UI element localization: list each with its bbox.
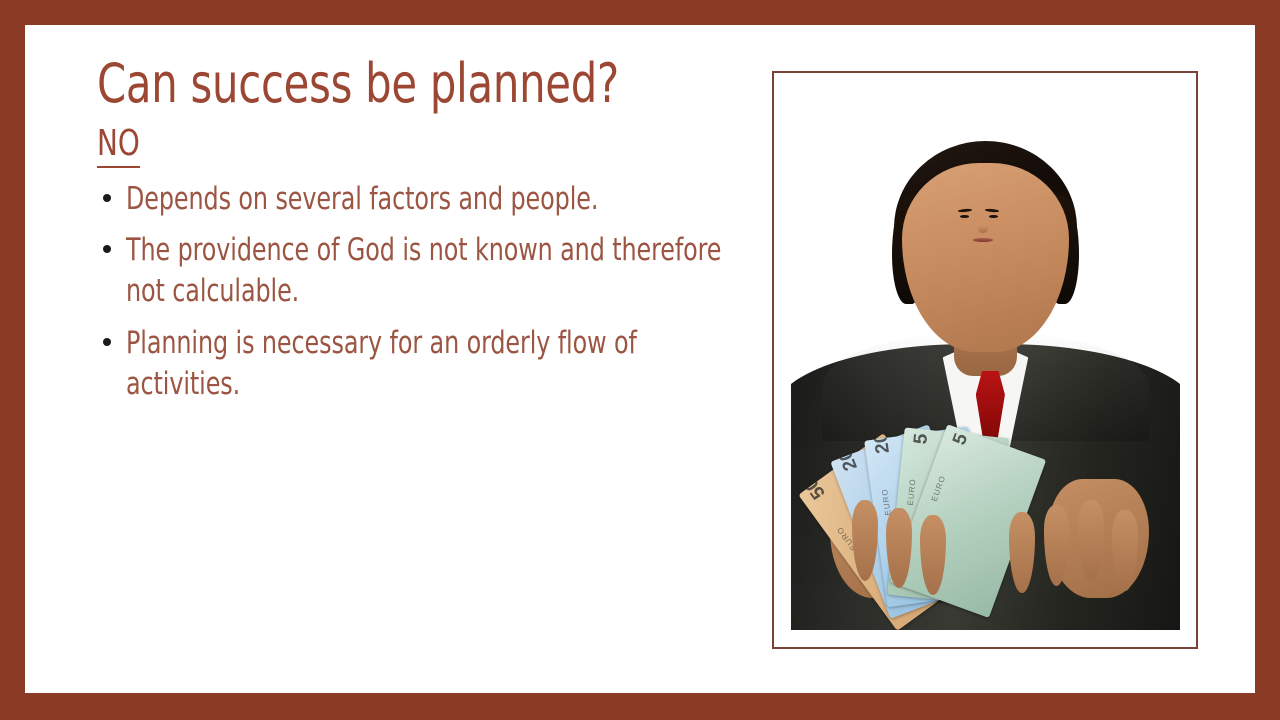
bullet-dot-icon (103, 194, 111, 202)
slide-canvas: Can success be planned? NO Depends on se… (25, 25, 1255, 693)
finger (1078, 500, 1104, 581)
photo-man-holding-euro-banknotes: 50 EURO 20 EURO 20 EURO 5 (791, 90, 1180, 630)
banknote-currency: EURO (930, 475, 948, 504)
slide: Can success be planned? NO Depends on se… (0, 0, 1280, 720)
list-item: Planning is necessary for an orderly flo… (97, 323, 752, 405)
bullet-list: Depends on several factors and people. T… (97, 179, 752, 406)
bullet-dot-icon (103, 338, 111, 346)
nose (978, 221, 988, 232)
list-item-label: The providence of God is not known and t… (126, 230, 752, 312)
banknote-denomination: 5 (911, 433, 934, 446)
picture-frame[interactable]: 50 EURO 20 EURO 20 EURO 5 (772, 71, 1198, 649)
finger (852, 500, 878, 581)
eye-left (960, 215, 969, 218)
eyebrow-right (985, 209, 999, 213)
eye-right (989, 215, 998, 218)
mouth (973, 238, 993, 243)
finger (920, 515, 946, 596)
finger (886, 508, 912, 589)
finger (1009, 512, 1035, 593)
face (902, 163, 1069, 352)
banknote-denomination: 20 (835, 446, 863, 474)
banknote-denomination: 5 (950, 431, 974, 448)
body-placeholder[interactable]: NO Depends on several factors and people… (97, 124, 752, 405)
page-title: Can success be planned? (97, 55, 660, 112)
list-item: The providence of God is not known and t… (97, 230, 752, 312)
list-item: Depends on several factors and people. (97, 179, 752, 220)
finger (1112, 510, 1138, 591)
bullet-dot-icon (103, 245, 111, 253)
list-item-label: Planning is necessary for an orderly flo… (126, 323, 752, 405)
fingers-group (814, 500, 1156, 619)
eyebrow-left (958, 209, 972, 213)
text-content-placeholder[interactable]: Can success be planned? NO Depends on se… (97, 55, 752, 416)
answer-label: NO (97, 124, 140, 167)
photo-scene: 50 EURO 20 EURO 20 EURO 5 (791, 90, 1180, 630)
finger (1044, 505, 1070, 586)
list-item-label: Depends on several factors and people. (126, 179, 752, 220)
